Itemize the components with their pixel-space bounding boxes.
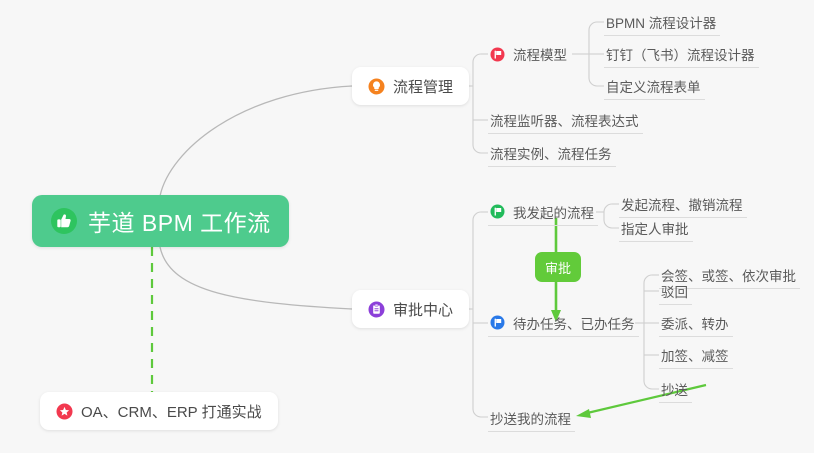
connector-root-to-approval-center	[160, 247, 352, 309]
node-delegate-transfer-label: 委派、转办	[661, 313, 729, 333]
connector-pm-corner-top	[473, 54, 481, 62]
node-todo-done-tasks[interactable]: 待办任务、已办任务	[488, 309, 639, 337]
connector-root-to-process-management	[160, 86, 352, 196]
node-cc-label: 抄送	[661, 379, 688, 399]
node-process-model[interactable]: 流程模型	[488, 40, 571, 68]
node-cc[interactable]: 抄送	[659, 375, 692, 403]
node-process-listener[interactable]: 流程监听器、流程表达式	[488, 106, 643, 134]
node-process-management[interactable]: 流程管理	[352, 67, 469, 105]
node-process-model-label: 流程模型	[513, 44, 567, 64]
node-add-remove-sign-label: 加签、减签	[661, 345, 729, 365]
annotation-arrow-cc-head	[576, 409, 591, 418]
lightbulb-icon	[368, 78, 385, 95]
node-reject[interactable]: 驳回	[659, 277, 692, 305]
star-icon	[56, 403, 73, 420]
node-cc-my-process[interactable]: 抄送我的流程	[488, 404, 575, 432]
connector-ac-spine	[473, 212, 488, 417]
flag-icon	[490, 315, 505, 330]
annotation-approval-badge: 审批	[535, 252, 581, 282]
node-process-instance[interactable]: 流程实例、流程任务	[488, 139, 616, 167]
node-dingtalk-designer-label: 钉钉（飞书）流程设计器	[606, 44, 755, 64]
node-bpmn-designer-label: BPMN 流程设计器	[606, 12, 716, 32]
node-dingtalk-designer[interactable]: 钉钉（飞书）流程设计器	[604, 40, 759, 68]
node-custom-form[interactable]: 自定义流程表单	[604, 72, 705, 100]
node-bottom-note[interactable]: OA、CRM、ERP 打通实战	[40, 392, 278, 430]
node-todo-done-tasks-label: 待办任务、已办任务	[513, 313, 635, 333]
node-approval-center[interactable]: 审批中心	[352, 290, 469, 328]
node-process-management-label: 流程管理	[393, 76, 453, 97]
node-add-remove-sign[interactable]: 加签、减签	[659, 341, 733, 369]
connector-model-spine	[589, 30, 604, 86]
node-approval-center-label: 审批中心	[393, 299, 453, 320]
node-bottom-note-label: OA、CRM、ERP 打通实战	[81, 401, 262, 422]
node-delegate-transfer[interactable]: 委派、转办	[659, 309, 733, 337]
node-assigned-approver[interactable]: 指定人审批	[619, 214, 693, 242]
mindmap-canvas: 芋道 BPM 工作流 流程管理 审批中心	[0, 0, 814, 453]
node-bpmn-designer[interactable]: BPMN 流程设计器	[604, 8, 720, 36]
connector-started-spine	[604, 204, 619, 228]
node-my-started-process-label: 我发起的流程	[513, 202, 594, 222]
node-cc-my-process-label: 抄送我的流程	[490, 408, 571, 428]
root-node-label: 芋道 BPM 工作流	[88, 204, 271, 238]
node-reject-label: 驳回	[661, 281, 688, 301]
node-start-cancel-process-label: 发起流程、撤销流程	[621, 194, 743, 214]
node-assigned-approver-label: 指定人审批	[621, 218, 689, 238]
flag-icon	[490, 47, 505, 62]
thumbs-up-icon	[50, 207, 78, 235]
connector-model-top	[589, 22, 604, 30]
connector-pm-spine-lower	[473, 62, 488, 153]
flag-icon	[490, 204, 505, 219]
node-process-listener-label: 流程监听器、流程表达式	[490, 110, 639, 130]
clipboard-icon	[368, 301, 385, 318]
annotation-approval-badge-label: 审批	[545, 258, 571, 277]
node-process-instance-label: 流程实例、流程任务	[490, 143, 612, 163]
node-custom-form-label: 自定义流程表单	[606, 76, 701, 96]
node-my-started-process[interactable]: 我发起的流程	[488, 198, 598, 226]
connector-todo-spine	[644, 275, 659, 389]
root-node[interactable]: 芋道 BPM 工作流	[32, 195, 289, 247]
